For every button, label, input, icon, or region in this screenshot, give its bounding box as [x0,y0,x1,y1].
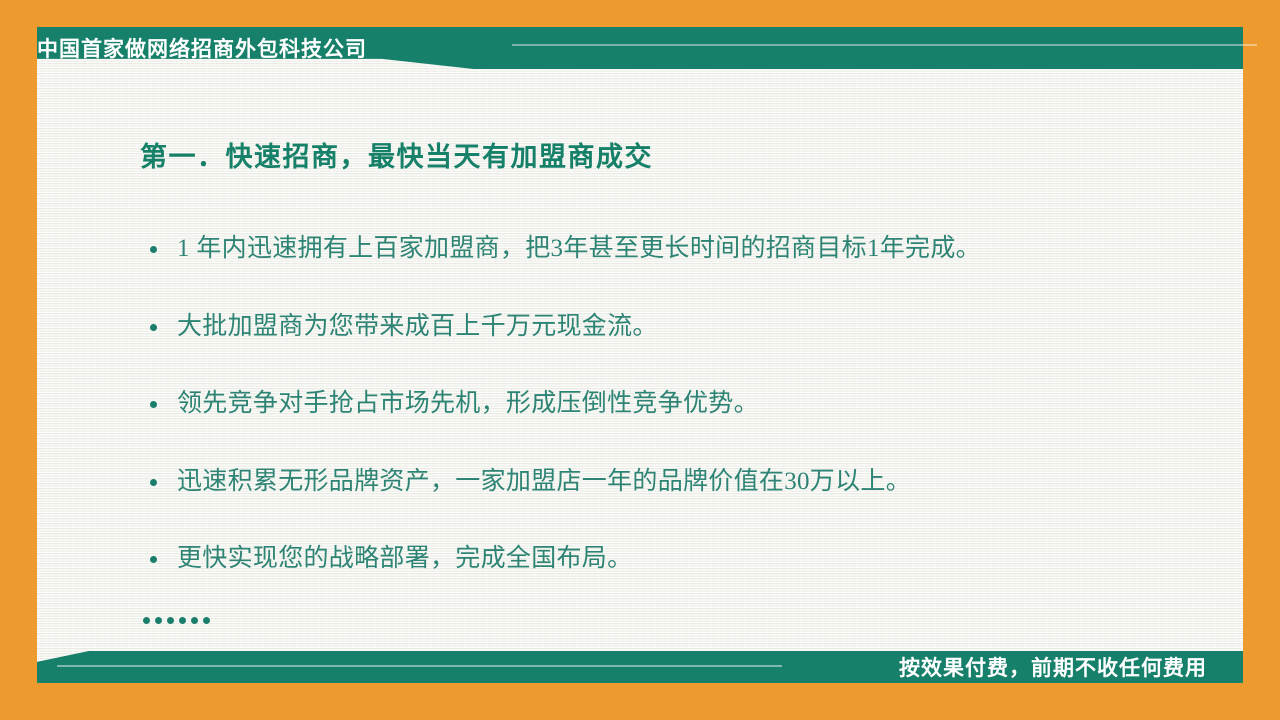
list-item-text: 迅速积累无形品牌资产，一家加盟店一年的品牌价值在30万以上。 [177,468,911,495]
footer-banner: 按效果付费，前期不收任何费用 [37,651,1243,683]
bullet-dot-icon [150,479,157,486]
list-item-text: 领先竞争对手抢占市场先机，形成压倒性竞争优势。 [177,390,759,417]
list-item: 迅速积累无形品牌资产，一家加盟店一年的品牌价值在30万以上。 [147,468,1207,496]
ellipsis-dot-icon [167,617,174,624]
list-item-text: 大批加盟商为您带来成百上千万元现金流。 [177,313,658,340]
list-item: 1 年内迅速拥有上百家加盟商，把3年甚至更长时间的招商目标1年完成。 [147,235,1207,263]
ellipsis-dot-icon [143,617,150,624]
ellipsis-marker [143,617,210,624]
bullet-dot-icon [150,246,157,253]
ellipsis-dot-icon [191,617,198,624]
ellipsis-dot-icon [155,617,162,624]
bullet-list: 1 年内迅速拥有上百家加盟商，把3年甚至更长时间的招商目标1年完成。 大批加盟商… [147,235,1207,573]
ellipsis-dot-icon [203,617,210,624]
list-item-text: 更快实现您的战略部署，完成全国布局。 [177,545,632,572]
footer-tagline: 按效果付费，前期不收任何费用 [899,651,1207,683]
header-title: 中国首家做网络招商外包科技公司 [37,29,507,67]
footer-accent-line [57,665,782,667]
bullet-dot-icon [150,556,157,563]
bullet-dot-icon [150,401,157,408]
bullet-dot-icon [150,324,157,331]
slide: 中国首家做网络招商外包科技公司 第一．快速招商，最快当天有加盟商成交 1 年内迅… [0,0,1280,720]
list-item: 大批加盟商为您带来成百上千万元现金流。 [147,313,1207,341]
ellipsis-dot-icon [179,617,186,624]
list-item: 领先竞争对手抢占市场先机，形成压倒性竞争优势。 [147,390,1207,418]
header-title-text: 中国首家做网络招商外包科技公司 [37,33,367,63]
header-accent-line [512,44,1257,46]
page-title: 第一．快速招商，最快当天有加盟商成交 [140,135,653,174]
list-item: 更快实现您的战略部署，完成全国布局。 [147,545,1207,573]
list-item-text: 1 年内迅速拥有上百家加盟商，把3年甚至更长时间的招商目标1年完成。 [177,235,981,262]
